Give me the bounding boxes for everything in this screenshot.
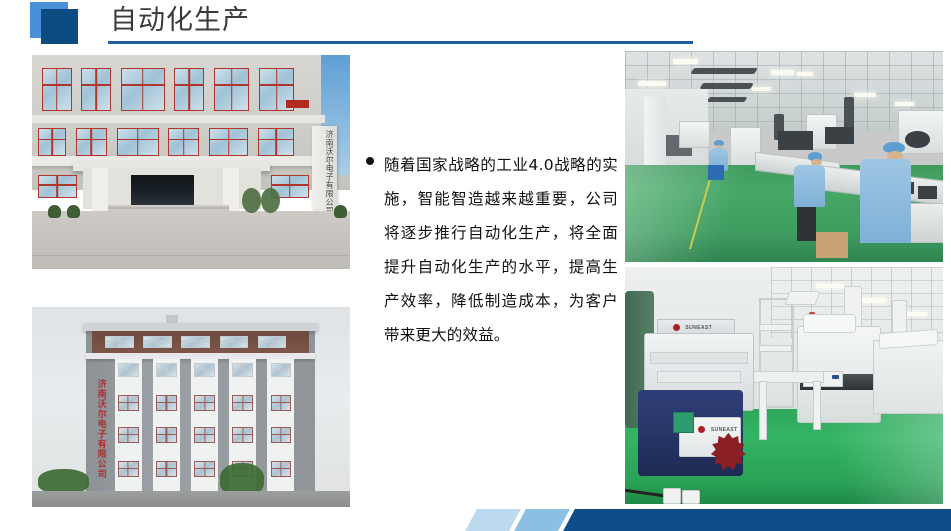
machine-unit (825, 127, 854, 144)
photo-office-block: 济南沃尔电子有限公司 (32, 307, 350, 507)
ceiling-light (905, 312, 927, 316)
window (271, 461, 292, 477)
window (118, 395, 139, 411)
hvac-duct (690, 68, 757, 74)
ceiling-light (860, 298, 885, 303)
cardboard-box (816, 232, 848, 257)
photo-office-entrance-content: 济南沃尔电子有限公司 (32, 55, 350, 269)
window (271, 395, 292, 411)
window (118, 427, 139, 443)
exhaust-duct (785, 291, 821, 305)
window (174, 68, 204, 111)
window (42, 68, 72, 111)
footer-band-dark (563, 509, 951, 531)
window (232, 395, 253, 411)
title-decoration-square-dark (41, 9, 78, 44)
ground-pavement (32, 211, 350, 269)
company-name-vertical-text: 济南沃尔电子有限公司 (318, 130, 334, 215)
window (81, 68, 111, 111)
window (271, 363, 292, 377)
reflow-oven-extension (873, 340, 943, 413)
facade-band-upper (32, 115, 325, 124)
window (258, 336, 287, 348)
window (156, 395, 177, 411)
ceiling-light (854, 93, 876, 97)
shrub (48, 205, 61, 218)
window (214, 68, 250, 111)
window-row-middle (38, 128, 318, 156)
ceiling-light (638, 81, 667, 86)
ceiling-light (673, 59, 698, 63)
table-leg (759, 381, 767, 440)
window (194, 395, 215, 411)
photo-production-floor (625, 51, 943, 262)
window (105, 336, 134, 348)
ceiling-light (797, 72, 813, 76)
window (181, 336, 210, 348)
window (76, 128, 107, 156)
photo-smt-line: SUNEAST SUNEAST (625, 267, 943, 504)
slide-canvas: 自动化生产 (0, 0, 951, 531)
machine-unit (778, 131, 813, 150)
brand-logo-icon (673, 324, 680, 331)
tree (38, 469, 89, 493)
bench-fixture (918, 186, 937, 199)
paint-bucket (663, 488, 681, 504)
window (194, 363, 215, 377)
window-row-upper (42, 68, 315, 111)
page-title: 自动化生产 (110, 2, 250, 38)
table-leg (813, 381, 821, 430)
bullet-paragraph-block: 随着国家战略的工业4.0战略的实施，智能智造越来越重要，公司将逐步推行自动化生产… (366, 148, 618, 352)
oven-hood (803, 314, 856, 333)
shrub (67, 205, 80, 218)
ceiling-light (771, 70, 793, 75)
ground-pavement (32, 491, 350, 507)
ceiling-light (895, 102, 914, 106)
platform-rail (759, 324, 793, 331)
company-name-vertical-text: 济南沃尔电子有限公司 (96, 379, 107, 479)
window (156, 427, 177, 443)
photo-office-block-content: 济南沃尔电子有限公司 (32, 307, 350, 507)
brand-label: SUNEAST (685, 325, 712, 331)
worker-stool (797, 207, 816, 241)
hvac-duct (706, 97, 747, 102)
window (121, 68, 165, 111)
body-paragraph: 随着国家战略的工业4.0战略的实施，智能智造越来越重要，公司将逐步推行自动化生产… (384, 148, 618, 352)
window (271, 427, 292, 443)
red-sign-plate (286, 100, 308, 109)
window (38, 175, 76, 199)
window (220, 336, 249, 348)
machine-cabinet (679, 121, 710, 148)
window (156, 461, 177, 477)
window (232, 427, 253, 443)
window (194, 427, 215, 443)
ceiling-light (752, 87, 771, 91)
window (118, 461, 139, 477)
ceiling-light (816, 284, 845, 289)
window (209, 128, 248, 156)
footer-band-light-2 (514, 509, 570, 531)
brand-label: SUNEAST (711, 427, 738, 433)
shrub (334, 205, 347, 218)
platform-rail (759, 345, 793, 352)
brand-logo-icon (698, 426, 705, 433)
window (168, 128, 199, 156)
porch-column-left (92, 168, 108, 211)
window (232, 363, 253, 377)
window (38, 128, 66, 156)
equipment-trolley (708, 165, 724, 180)
worker-body (860, 159, 911, 243)
window (194, 461, 215, 477)
panel-indicator (832, 375, 839, 379)
worker-body (794, 165, 826, 207)
bullet-point-icon (366, 157, 374, 165)
title-underline-rule (108, 41, 693, 44)
footer-band-light-1 (465, 509, 521, 531)
paint-bucket (682, 490, 700, 504)
squeegee-rail (650, 352, 747, 363)
entrance-doorway (131, 175, 195, 205)
stencil-holder (657, 371, 742, 382)
pavement-line (32, 255, 350, 256)
window (117, 128, 159, 156)
floor-reflection (768, 409, 943, 504)
window (258, 128, 294, 156)
tree (242, 188, 261, 214)
roof-eave (83, 323, 318, 331)
model-tag (673, 412, 694, 433)
window (118, 363, 139, 377)
photo-smt-line-content: SUNEAST SUNEAST (625, 267, 943, 504)
photo-production-floor-content (625, 51, 943, 262)
window (143, 336, 172, 348)
window (156, 363, 177, 377)
photo-office-entrance: 济南沃尔电子有限公司 (32, 55, 350, 269)
